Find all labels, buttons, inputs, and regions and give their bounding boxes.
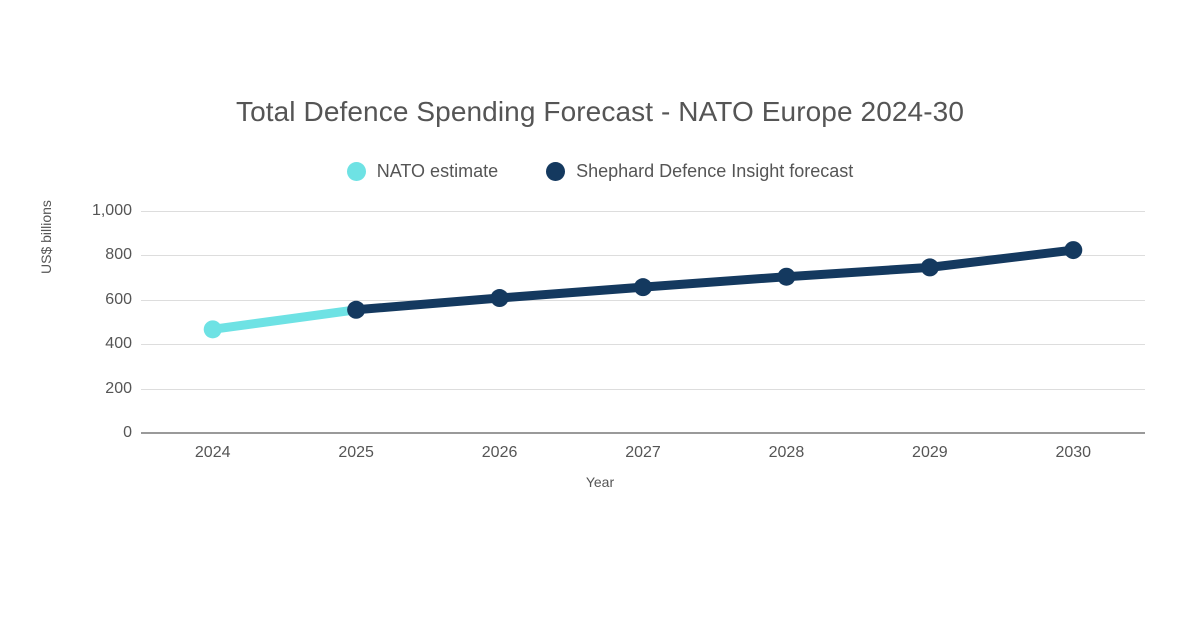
- series-plot: [0, 0, 1200, 627]
- series-line: [213, 310, 356, 330]
- data-point-marker[interactable]: [634, 278, 652, 296]
- data-point-marker[interactable]: [491, 289, 509, 307]
- chart-container: Total Defence Spending Forecast - NATO E…: [0, 0, 1200, 627]
- data-point-marker[interactable]: [347, 301, 365, 319]
- data-point-marker[interactable]: [921, 258, 939, 276]
- series-line: [356, 250, 1073, 310]
- data-point-marker[interactable]: [777, 268, 795, 286]
- x-axis-title: Year: [0, 474, 1200, 490]
- data-point-marker[interactable]: [1064, 241, 1082, 259]
- plot-area: US$ billions 02004006008001,000 20242025…: [0, 0, 1200, 627]
- data-point-marker[interactable]: [204, 320, 222, 338]
